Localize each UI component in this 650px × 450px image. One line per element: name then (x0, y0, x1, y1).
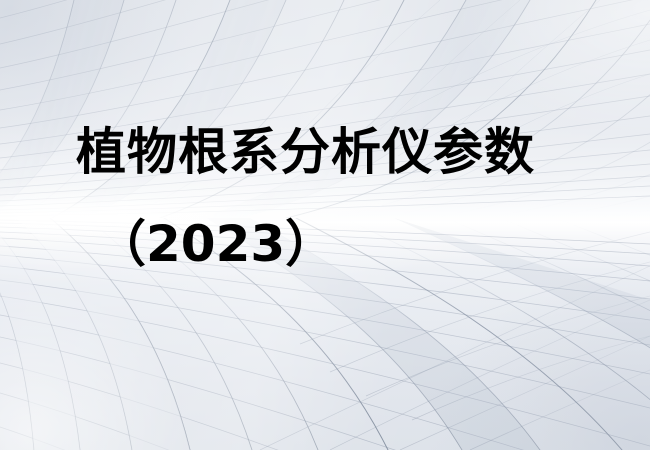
page-title: 植物根系分析仪参数 (76, 127, 535, 177)
title-slide: 植物根系分析仪参数 （2023） (0, 0, 650, 450)
slide-title-block: 植物根系分析仪参数 （2023） (0, 0, 650, 450)
page-subtitle-year: （2023） (96, 219, 335, 269)
